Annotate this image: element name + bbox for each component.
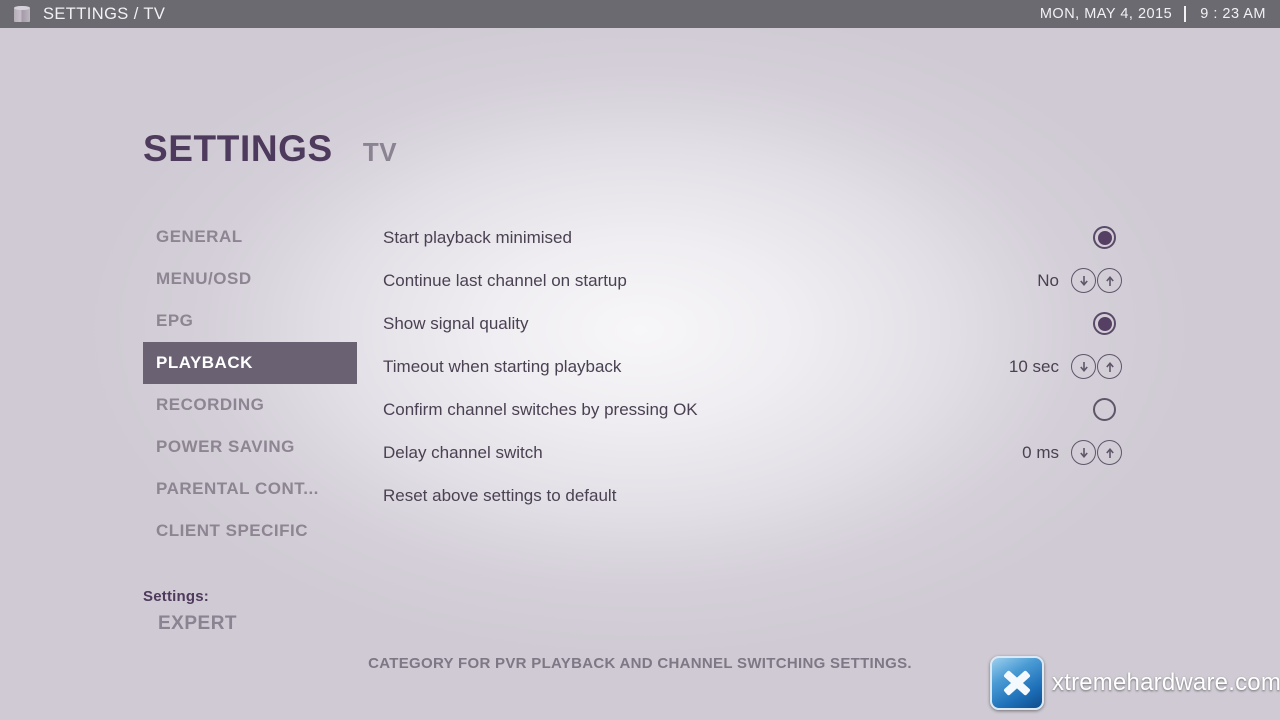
setting-label: Show signal quality (383, 314, 529, 334)
arrow-down-icon[interactable] (1071, 440, 1096, 465)
setting-row-timeout-starting-playback[interactable]: Timeout when starting playback 10 sec (383, 345, 1141, 388)
sidebar-item-label: RECORDING (156, 395, 264, 415)
arrow-up-icon[interactable] (1097, 354, 1122, 379)
setting-control: No (1037, 259, 1141, 302)
setting-control (1093, 216, 1141, 259)
sidebar-item-epg[interactable]: EPG (143, 300, 357, 342)
toggle-radio-on[interactable] (1093, 312, 1116, 335)
settings-level-value[interactable]: EXPERT (158, 613, 237, 635)
setting-label: Timeout when starting playback (383, 357, 621, 377)
x-logo-icon (990, 656, 1044, 710)
watermark: xtremehardware.com (990, 656, 1280, 710)
status-date: MON, MAY 4, 2015 (1040, 6, 1172, 22)
sidebar-item-menu-osd[interactable]: MENU/OSD (143, 258, 357, 300)
sidebar-item-general[interactable]: GENERAL (143, 216, 357, 258)
setting-control: 0 ms (1022, 431, 1141, 474)
sidebar-item-label: MENU/OSD (156, 269, 252, 289)
arrow-up-icon[interactable] (1097, 268, 1122, 293)
watermark-text: xtremehardware.com (1052, 669, 1280, 697)
top-bar: SETTINGS / TV MON, MAY 4, 2015 9 : 23 AM (0, 0, 1280, 28)
settings-level: Settings: EXPERT (143, 588, 237, 635)
sidebar-item-label: POWER SAVING (156, 437, 295, 457)
page-title-section: TV (363, 137, 397, 168)
spinner (1071, 440, 1122, 465)
breadcrumb: SETTINGS / TV (43, 5, 165, 24)
setting-row-continue-last-channel[interactable]: Continue last channel on startup No (383, 259, 1141, 302)
sidebar-item-recording[interactable]: RECORDING (143, 384, 357, 426)
page-title: SETTINGS TV (143, 128, 397, 170)
arrow-down-icon[interactable] (1071, 354, 1096, 379)
setting-label: Start playback minimised (383, 228, 572, 248)
setting-row-show-signal-quality[interactable]: Show signal quality (383, 302, 1141, 345)
settings-list: Start playback minimised Continue last c… (383, 216, 1141, 517)
setting-label: Confirm channel switches by pressing OK (383, 400, 698, 420)
category-sidebar: GENERAL MENU/OSD EPG PLAYBACK RECORDING … (143, 216, 357, 552)
settings-level-label: Settings: (143, 588, 237, 605)
sidebar-item-client-specific[interactable]: CLIENT SPECIFIC (143, 510, 357, 552)
setting-value: No (1037, 271, 1059, 291)
clock-group: MON, MAY 4, 2015 9 : 23 AM (1040, 0, 1266, 28)
setting-control (1093, 388, 1141, 431)
sidebar-item-power-saving[interactable]: POWER SAVING (143, 426, 357, 468)
toggle-radio-on[interactable] (1093, 226, 1116, 249)
spinner (1071, 268, 1122, 293)
setting-label: Continue last channel on startup (383, 271, 627, 291)
settings-screen: SETTINGS / TV MON, MAY 4, 2015 9 : 23 AM… (0, 0, 1280, 720)
setting-value: 10 sec (1009, 357, 1059, 377)
sidebar-item-label: GENERAL (156, 227, 243, 247)
sidebar-item-label: CLIENT SPECIFIC (156, 521, 308, 541)
setting-label: Delay channel switch (383, 443, 543, 463)
setting-label: Reset above settings to default (383, 486, 616, 506)
sidebar-item-label: EPG (156, 311, 193, 331)
status-divider (1184, 6, 1186, 22)
arrow-down-icon[interactable] (1071, 268, 1096, 293)
setting-row-start-playback-minimised[interactable]: Start playback minimised (383, 216, 1141, 259)
cube-icon (14, 6, 30, 23)
page-title-main: SETTINGS (143, 128, 333, 170)
arrow-up-icon[interactable] (1097, 440, 1122, 465)
spinner (1071, 354, 1122, 379)
toggle-radio-off[interactable] (1093, 398, 1116, 421)
status-time: 9 : 23 AM (1200, 6, 1266, 22)
sidebar-item-label: PARENTAL CONT... (156, 479, 319, 499)
sidebar-item-playback[interactable]: PLAYBACK (143, 342, 357, 384)
sidebar-item-label: PLAYBACK (156, 353, 253, 373)
setting-row-confirm-channel-switches[interactable]: Confirm channel switches by pressing OK (383, 388, 1141, 431)
setting-control (1093, 302, 1141, 345)
setting-value: 0 ms (1022, 443, 1059, 463)
setting-control: 10 sec (1009, 345, 1141, 388)
sidebar-item-parental-control[interactable]: PARENTAL CONT... (143, 468, 357, 510)
setting-row-delay-channel-switch[interactable]: Delay channel switch 0 ms (383, 431, 1141, 474)
setting-row-reset-to-default[interactable]: Reset above settings to default (383, 474, 1141, 517)
